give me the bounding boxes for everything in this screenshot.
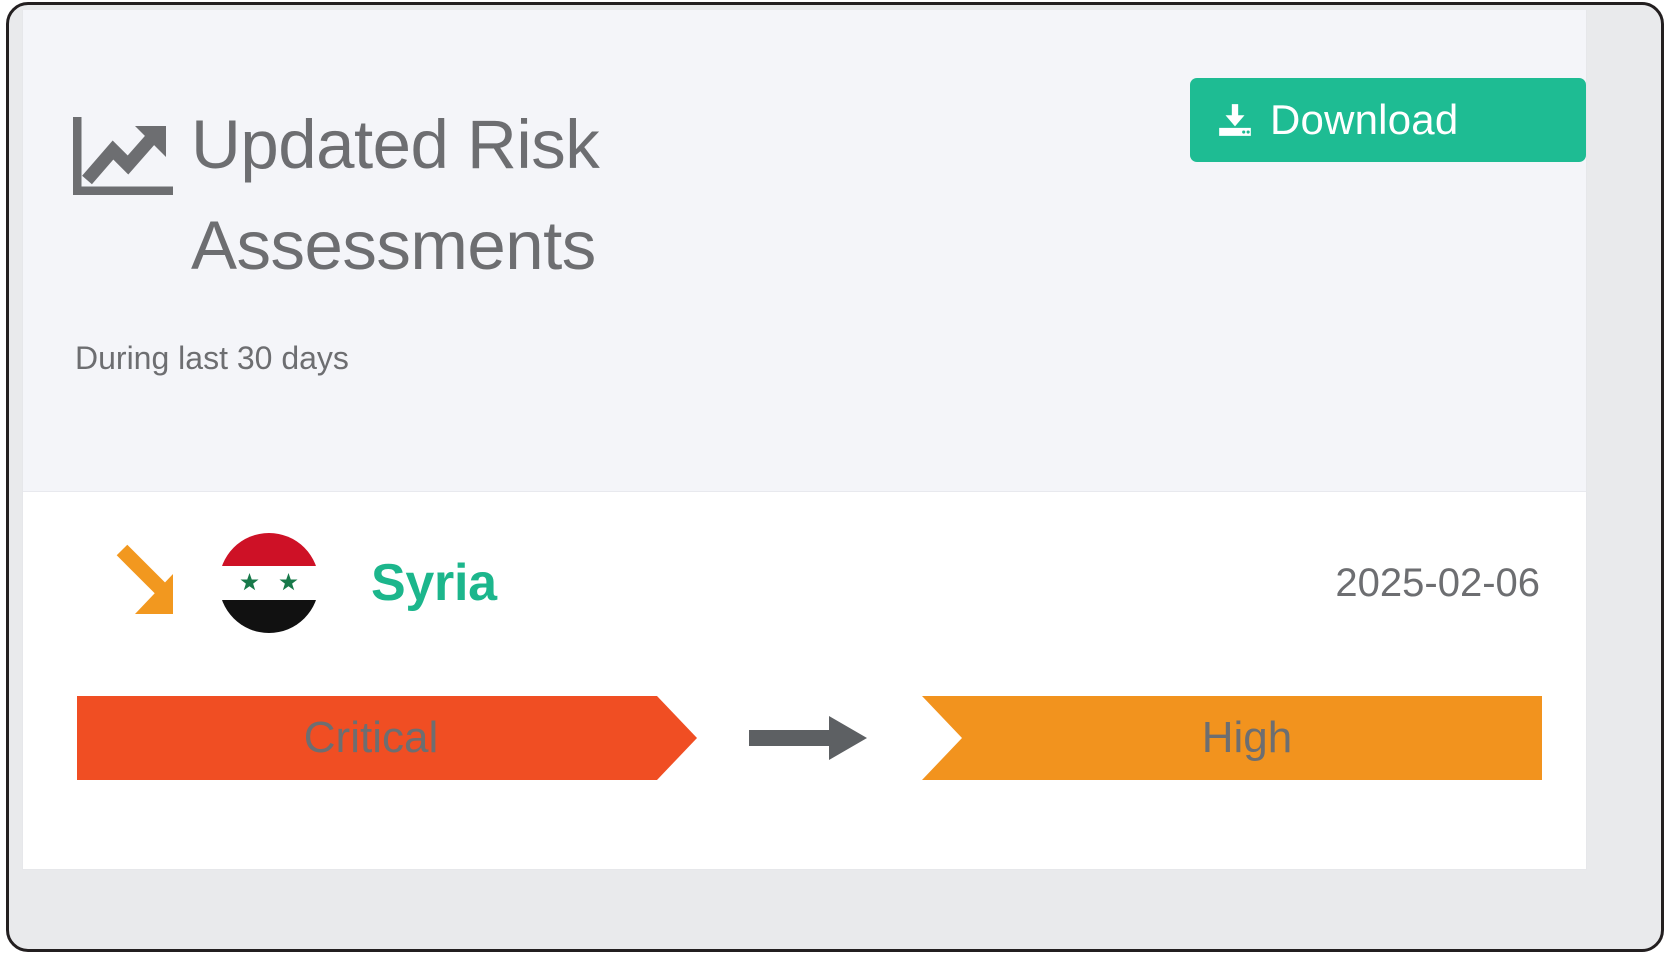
flag-star-icon [279, 573, 298, 592]
screenshot-viewport: Updated Risk Assessments During last 30 … [0, 0, 1670, 954]
updated-risk-assessments-card: Updated Risk Assessments During last 30 … [22, 10, 1587, 870]
flag-band-black [219, 600, 319, 633]
assessment-date: 2025-02-06 [1335, 561, 1540, 606]
flag-stars [219, 566, 319, 599]
card-header: Updated Risk Assessments During last 30 … [23, 10, 1586, 492]
country-name[interactable]: Syria [371, 553, 497, 613]
card-body: Syria 2025-02-06 Critical High [23, 492, 1586, 868]
previous-risk-label: Critical [304, 713, 438, 763]
page-title: Updated Risk Assessments [191, 95, 773, 296]
download-tray-icon [1216, 101, 1254, 139]
arrow-right-icon [749, 714, 869, 762]
syria-flag-icon [219, 533, 319, 633]
flag-star-icon [240, 573, 259, 592]
card-subtitle: During last 30 days [75, 340, 349, 377]
download-button[interactable]: Download [1190, 78, 1586, 162]
assessment-row[interactable]: Syria 2025-02-06 [23, 528, 1586, 638]
arrow-down-right-icon [115, 544, 187, 622]
flag-band-red [219, 533, 319, 566]
chart-line-up-icon [73, 117, 173, 195]
previous-risk-chip: Critical [77, 696, 697, 780]
risk-transition-row: Critical High [77, 696, 1542, 780]
card-title-row: Updated Risk Assessments [73, 95, 773, 296]
new-risk-label: High [1202, 713, 1293, 763]
download-button-label: Download [1270, 96, 1458, 144]
new-risk-chip: High [922, 696, 1542, 780]
